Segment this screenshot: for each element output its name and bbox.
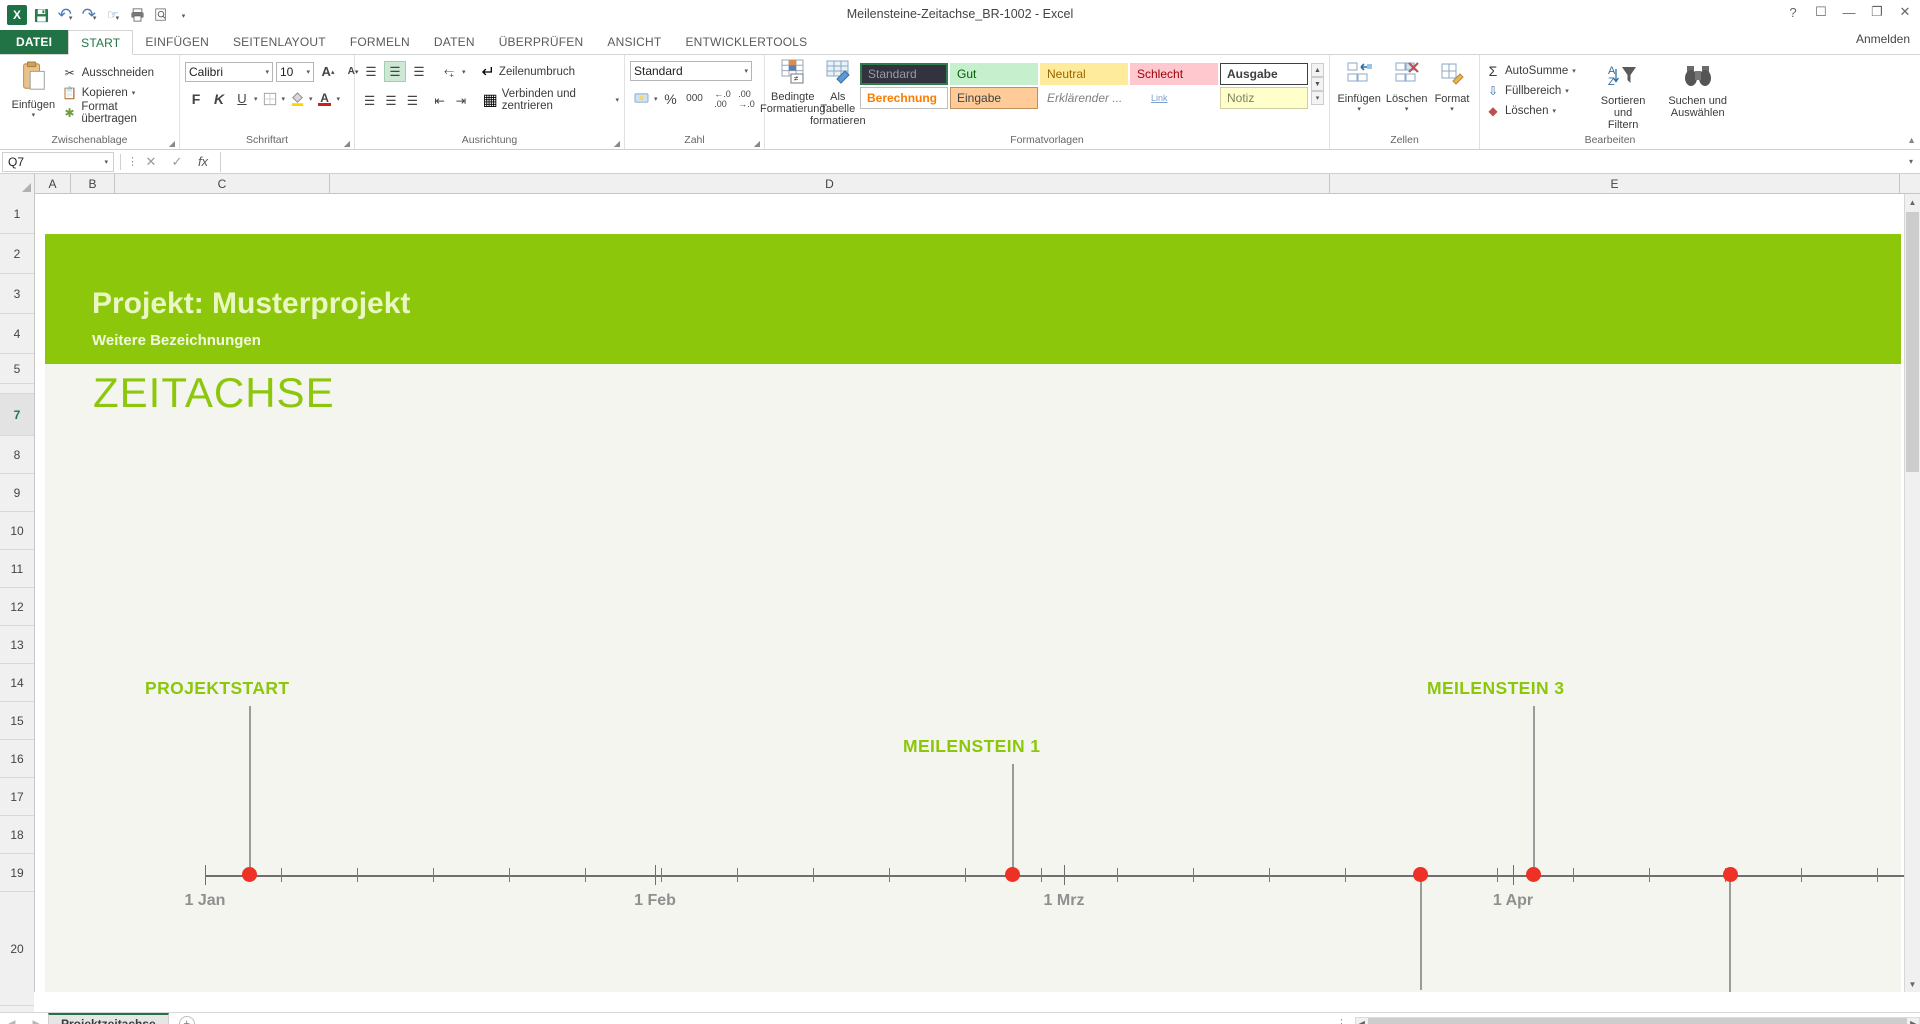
milestone-marker-2[interactable] (1413, 867, 1428, 882)
font-name-input[interactable]: Calibri ▾ (185, 62, 273, 82)
axis-minor-tick (965, 868, 966, 882)
conditional-formatting-label-1: Bedingte (771, 91, 814, 103)
font-dialog-launcher-icon[interactable]: ◢ (344, 139, 350, 148)
excel-window: X ↶▾ ↷▾ ☞▾ ▾ Meilensteine-Zeitachse_BR-1… (0, 0, 1920, 1024)
confirm-edit-icon[interactable]: ✓ (164, 154, 190, 170)
axis-minor-tick (1269, 868, 1270, 882)
row-header-19[interactable]: 19 (0, 854, 34, 892)
autosum-label: AutoSumme (1505, 65, 1568, 77)
ribbon-collapse-icon[interactable]: ▲ (1907, 135, 1916, 145)
number-dialog-launcher-icon[interactable]: ◢ (754, 139, 760, 148)
thousands-label: 000 (686, 93, 703, 104)
expand-formula-bar-icon[interactable]: ▾ (1902, 157, 1920, 166)
cell-style-gut[interactable]: Gut (950, 63, 1038, 85)
paste-icon (18, 61, 48, 99)
ribbon-tab-start[interactable]: START (68, 30, 133, 55)
row-header-14[interactable]: 14 (0, 664, 34, 702)
axis-minor-tick (1497, 868, 1498, 882)
signin-link[interactable]: Anmelden (1856, 32, 1910, 46)
gallery-scroll-down-icon[interactable]: ▼ (1311, 77, 1324, 91)
cells-title-text: Zellen (1390, 134, 1419, 146)
clipboard-group-title: Zwischenablage ◢ (0, 134, 179, 149)
format-cells-label: Format (1435, 93, 1470, 105)
insert-cells-dropdown-icon[interactable]: ▾ (1357, 105, 1361, 113)
close-icon[interactable]: ✕ (1896, 4, 1914, 20)
find-select-label-1: Suchen und (1668, 95, 1727, 107)
cut-button[interactable]: ✂ Ausschneiden (62, 63, 174, 83)
milestone-stem-projektstart (249, 706, 251, 878)
milestone-label-1: MEILENSTEIN 1 (903, 736, 1040, 757)
help-icon[interactable]: ? (1784, 5, 1802, 20)
orientation-dropdown-icon[interactable]: ▾ (462, 68, 466, 76)
align-center-button[interactable]: ☰ (381, 90, 400, 111)
cell-style-erklaerender-text[interactable]: Erklärender ... (1040, 87, 1128, 109)
vertical-scrollbar[interactable]: ▲ ▼ (1904, 194, 1920, 992)
title-bar: X ↶▾ ↷▾ ☞▾ ▾ Meilensteine-Zeitachse_BR-1… (0, 0, 1920, 30)
row-header-17[interactable]: 17 (0, 778, 34, 816)
axis-tick-label-jan: 1 Jan (185, 892, 226, 910)
copy-dropdown-icon[interactable]: ▾ (132, 89, 136, 97)
fill-color-dropdown-icon[interactable]: ▾ (309, 95, 313, 103)
cell-style-schlecht[interactable]: Schlecht (1130, 63, 1218, 85)
column-header-e[interactable]: E (1330, 174, 1900, 194)
axis-tick-label-mrz: 1 Mrz (1044, 892, 1085, 910)
axis-minor-tick (509, 868, 510, 882)
excel-logo-glyph: X (7, 5, 27, 25)
axis-minor-tick (281, 868, 282, 882)
autosum-button[interactable]: Σ AutoSumme ▾ (1485, 61, 1576, 81)
paste-dropdown-icon[interactable]: ▾ (32, 111, 36, 119)
scroll-up-icon[interactable]: ▲ (1905, 194, 1920, 210)
cell-style-standard[interactable]: Standard (860, 63, 948, 85)
horizontal-scrollbar[interactable]: ◀ ▶ (1355, 1017, 1920, 1024)
hscroll-right-icon[interactable]: ▶ (1907, 1019, 1919, 1024)
percent-label: % (664, 91, 676, 107)
insert-cells-label: Einfügen (1337, 93, 1380, 105)
fill-label: Füllbereich (1505, 85, 1561, 97)
svg-text:≠: ≠ (794, 74, 799, 83)
customize-qat-icon[interactable]: ▾ (174, 4, 196, 26)
ribbon: Einfügen ▾ ✂ Ausschneiden 📋 Kopieren ▾ ✱ (0, 55, 1920, 150)
underline-label: U (237, 91, 246, 106)
format-cells-button[interactable]: Format ▾ (1430, 59, 1474, 115)
cell-styles-scroll: ▲ ▼ ▾ (1311, 57, 1324, 105)
scissors-icon: ✂ (62, 66, 78, 80)
sheet-tab-projektzeitachse[interactable]: Projektzeitachse (48, 1013, 169, 1024)
ribbon-tab-einfuegen[interactable]: EINFÜGEN (133, 30, 221, 54)
sort-filter-icon: A Z (1607, 63, 1639, 95)
align-bottom-button[interactable]: ☰ (408, 61, 430, 82)
decrease-decimal-button[interactable]: .00→.0 (736, 88, 758, 109)
paintbrush-icon: ✱ (62, 106, 78, 120)
axis-minor-tick (585, 868, 586, 882)
column-header-a[interactable]: A (35, 174, 71, 194)
axis-minor-tick (1117, 868, 1118, 882)
delete-cells-dropdown-icon[interactable]: ▾ (1405, 105, 1409, 113)
cell-style-eingabe[interactable]: Eingabe (950, 87, 1038, 109)
fill-down-icon: ⇩ (1485, 84, 1501, 98)
merge-center-label: Verbinden und zentrieren (502, 88, 612, 112)
number-group-title: Zahl ◢ (625, 134, 764, 149)
column-header-d[interactable]: D (330, 174, 1330, 194)
conditional-formatting-icon: ≠ (778, 59, 808, 91)
ribbon-tab-datei[interactable]: DATEI (0, 30, 68, 54)
row-header-16[interactable]: 16 (0, 740, 34, 778)
clipboard-dialog-launcher-icon[interactable]: ◢ (169, 139, 175, 148)
italic-label: K (214, 91, 224, 107)
styles-group-title: Formatvorlagen (765, 134, 1329, 149)
cell-style-link[interactable]: Link (1130, 87, 1218, 109)
font-color-button[interactable]: A (314, 88, 336, 109)
merge-cells-icon: ▦ (483, 90, 498, 110)
ribbon-tab-ueberpruefen[interactable]: ÜBERPRÜFEN (487, 30, 596, 54)
milestone-stem-1 (1012, 764, 1014, 878)
quick-access-toolbar: X ↶▾ ↷▾ ☞▾ ▾ (0, 4, 196, 26)
milestone-marker-1[interactable] (1005, 867, 1020, 882)
cell-style-neutral[interactable]: Neutral (1040, 63, 1128, 85)
restore-icon[interactable]: ❐ (1868, 4, 1886, 20)
number-format-select[interactable]: Standard ▾ (630, 61, 752, 81)
axis-tick-label-feb: 1 Feb (634, 892, 676, 910)
cell-styles-gallery: Standard Gut Neutral Schlecht Ausgabe Be… (860, 57, 1308, 109)
currency-format-button[interactable] (630, 88, 652, 109)
redo-icon[interactable]: ↷▾ (78, 4, 100, 26)
number-format-dropdown-icon[interactable]: ▾ (740, 67, 748, 75)
axis-tick-label-apr: 1 Apr (1493, 892, 1533, 910)
axis-minor-tick (1041, 868, 1042, 882)
font-name-value: Calibri (189, 65, 223, 79)
axis-minor-tick (357, 868, 358, 882)
ribbon-group-editing: Σ AutoSumme ▾ ⇩ Füllbereich ▾ ◆ Löschen … (1480, 55, 1740, 149)
copy-label: Kopieren (82, 87, 128, 99)
wrap-text-label: Zeilenumbruch (499, 66, 575, 78)
borders-button[interactable] (259, 88, 281, 109)
axis-minor-tick (813, 868, 814, 882)
align-left-button[interactable]: ☰ (360, 90, 379, 111)
cell-style-ausgabe[interactable]: Ausgabe (1220, 63, 1308, 85)
row-header-1[interactable]: 1 (0, 194, 34, 234)
ribbon-tab-daten[interactable]: DATEN (422, 30, 487, 54)
formula-bar-grip-icon: ⋮ (127, 155, 138, 168)
eraser-icon: ◆ (1485, 104, 1501, 118)
underline-dropdown-icon[interactable]: ▾ (254, 95, 258, 103)
wrap-text-icon: ↵ (482, 62, 495, 82)
editing-group-title: Bearbeiten (1480, 134, 1740, 149)
autosum-dropdown-icon[interactable]: ▾ (1572, 67, 1576, 75)
sheet-tab-bar: ◀ ▶ Projektzeitachse + ⋮ ◀ ▶ (0, 1012, 1920, 1024)
name-box[interactable]: Q7 ▾ (2, 152, 114, 172)
sheet-nav-arrows: ◀ ▶ (0, 1018, 48, 1024)
sheet-prev-icon[interactable]: ◀ (9, 1018, 16, 1024)
italic-button[interactable]: K (208, 88, 230, 109)
clipboard-title-text: Zwischenablage (52, 134, 128, 146)
format-as-table-button[interactable]: Als Tabelle formatieren (816, 57, 861, 129)
row-header-15[interactable]: 15 (0, 702, 34, 740)
axis-minor-tick (1345, 868, 1346, 882)
name-box-dropdown-icon[interactable]: ▾ (104, 158, 108, 166)
sort-filter-label-1: Sortieren und (1591, 95, 1656, 119)
find-select-button[interactable]: Suchen und Auswählen (1660, 61, 1735, 121)
merge-center-button[interactable]: ▦ Verbinden und zentrieren ▾ (483, 88, 619, 112)
ribbon-tab-entwicklertools[interactable]: ENTWICKLERTOOLS (673, 30, 819, 54)
row-header-20[interactable]: 20 (0, 892, 34, 1006)
align-middle-button[interactable]: ☰ (384, 61, 406, 82)
ribbon-group-alignment: ☰ ☰ ☰ ⥆ ▾ ↵ Zeilenumbruch ☰ ☰ ☰ ⇤ ⇥ (355, 55, 625, 149)
cell-style-berechnung[interactable]: Berechnung (860, 87, 948, 109)
number-format-value: Standard (634, 64, 683, 78)
currency-dropdown-icon[interactable]: ▾ (654, 95, 658, 103)
milestone-label-projektstart: PROJEKTSTART (145, 678, 289, 699)
row-header-9[interactable]: 9 (0, 474, 34, 512)
formula-bar: Q7 ▾ ⋮ ✕ ✓ fx ▾ (0, 150, 1920, 174)
insert-function-icon[interactable]: fx (190, 154, 216, 169)
cancel-edit-icon[interactable]: ✕ (138, 154, 164, 170)
worksheet: A B C D E 1 2 3 4 5 6 7 8 9 10 11 12 13 … (0, 174, 1920, 1012)
font-size-dropdown-icon[interactable]: ▾ (302, 68, 310, 76)
alignment-title-text: Ausrichtung (462, 134, 517, 146)
gallery-more-icon[interactable]: ▾ (1311, 91, 1324, 105)
increase-decimal-button[interactable]: ←.0.00 (712, 88, 734, 109)
grow-font-button[interactable]: A▴ (317, 61, 339, 82)
cut-label: Ausschneiden (82, 67, 154, 79)
find-select-label-2: Auswählen (1671, 107, 1725, 119)
row-header-3[interactable]: 3 (0, 274, 34, 314)
font-color-dropdown-icon[interactable]: ▾ (337, 95, 341, 103)
row-header-7[interactable]: 7 (0, 394, 34, 436)
row-header-4[interactable]: 4 (0, 314, 34, 354)
fill-dropdown-icon[interactable]: ▾ (1565, 87, 1569, 95)
select-all-button[interactable] (0, 174, 35, 194)
delete-cells-button[interactable]: Löschen ▾ (1383, 59, 1430, 115)
row-header-18[interactable]: 18 (0, 816, 34, 854)
milestone-marker-projektstart[interactable] (242, 867, 257, 882)
axis-minor-tick (737, 868, 738, 882)
wrap-text-button[interactable]: ↵ Zeilenumbruch (482, 62, 575, 82)
excel-logo-icon: X (6, 4, 28, 26)
fill-color-button[interactable] (286, 88, 308, 109)
window-controls: ? ☐ — ❐ ✕ (1784, 4, 1914, 20)
column-headers: A B C D E (0, 174, 1920, 194)
font-name-dropdown-icon[interactable]: ▾ (261, 68, 269, 76)
copy-icon: 📋 (62, 86, 78, 100)
column-header-b[interactable]: B (71, 174, 115, 194)
milestone-marker-4[interactable] (1723, 867, 1738, 882)
axis-minor-tick (889, 868, 890, 882)
clear-label: Löschen (1505, 105, 1548, 117)
hscroll-left-icon[interactable]: ◀ (1356, 1019, 1368, 1024)
axis-minor-tick (1801, 868, 1802, 882)
clear-dropdown-icon[interactable]: ▾ (1552, 107, 1556, 115)
cell-styles-row-1: Standard Gut Neutral Schlecht Ausgabe (860, 63, 1308, 85)
row-header-12[interactable]: 12 (0, 588, 34, 626)
format-as-table-label-2: formatieren (810, 115, 866, 127)
milestone-label-3: MEILENSTEIN 3 (1427, 678, 1564, 699)
insert-cells-button[interactable]: Einfügen ▾ (1335, 59, 1383, 115)
ribbon-tab-ansicht[interactable]: ANSICHT (595, 30, 673, 54)
ribbon-tab-strip: DATEI START EINFÜGEN SEITENLAYOUT FORMEL… (0, 30, 1920, 55)
ribbon-group-styles: ≠ Bedingte Formatierung (765, 55, 1330, 149)
insert-cells-icon (1345, 61, 1373, 93)
column-header-c[interactable]: C (115, 174, 330, 194)
row-header-6[interactable]: 6 (0, 384, 34, 394)
axis-major-tick (205, 865, 206, 885)
milestone-stem-2 (1420, 876, 1422, 990)
font-title-text: Schriftart (246, 134, 288, 146)
paste-button[interactable]: Einfügen ▾ (5, 59, 62, 121)
vertical-scroll-thumb[interactable] (1906, 212, 1919, 472)
add-sheet-button[interactable]: + (179, 1016, 195, 1024)
clear-button[interactable]: ◆ Löschen ▾ (1485, 101, 1576, 121)
font-size-input[interactable]: 10 ▾ (276, 62, 314, 82)
format-painter-button[interactable]: ✱ Format übertragen (62, 103, 174, 123)
merge-center-dropdown-icon[interactable]: ▾ (615, 96, 619, 104)
horizontal-scroll-thumb[interactable] (1368, 1018, 1908, 1024)
axis-minor-tick (661, 868, 662, 882)
ribbon-group-number: Standard ▾ ▾ % 000 ←.0.00 .00→.0 Zahl ◢ (625, 55, 765, 149)
underline-button[interactable]: U (231, 88, 253, 109)
delete-cells-label: Löschen (1386, 93, 1428, 105)
milestone-stem-4 (1729, 876, 1731, 992)
axis-minor-tick (433, 868, 434, 882)
touch-mode-icon[interactable]: ☞▾ (102, 4, 124, 26)
undo-icon[interactable]: ↶▾ (54, 4, 76, 26)
minimize-icon[interactable]: — (1840, 5, 1858, 20)
cell-style-notiz[interactable]: Notiz (1220, 87, 1308, 109)
font-size-value: 10 (280, 65, 293, 79)
cell-styles-row-2: Berechnung Eingabe Erklärender ... Link … (860, 87, 1308, 109)
cells-group-title: Zellen (1330, 134, 1479, 149)
font-group-title: Schriftart ◢ (180, 134, 354, 149)
increase-indent-button[interactable]: ⇥ (451, 90, 470, 111)
name-box-value: Q7 (8, 155, 24, 169)
axis-minor-tick (1649, 868, 1650, 882)
ribbon-group-cells: Einfügen ▾ Löschen ▾ (1330, 55, 1480, 149)
milestone-stem-3 (1533, 706, 1535, 878)
bold-button[interactable]: F (185, 88, 207, 109)
scroll-down-icon[interactable]: ▼ (1905, 976, 1920, 992)
timeline-axis (205, 875, 1920, 877)
conditional-formatting-button[interactable]: ≠ Bedingte Formatierung (770, 57, 816, 117)
axis-minor-tick (1573, 868, 1574, 882)
sigma-icon: Σ (1485, 63, 1501, 79)
number-title-text: Zahl (684, 134, 704, 146)
delete-cells-icon (1393, 61, 1421, 93)
editing-title-text: Bearbeiten (1585, 134, 1636, 146)
timeline-chart[interactable]: 1 Jan 1 Feb 1 Mrz 1 Apr 1 Mai PROJEKTSTA… (35, 194, 1891, 992)
bold-label: F (192, 91, 201, 107)
ribbon-tab-formeln[interactable]: FORMELN (338, 30, 422, 54)
row-header-13[interactable]: 13 (0, 626, 34, 664)
styles-title-text: Formatvorlagen (1010, 134, 1084, 146)
tab-split-grip-icon[interactable]: ⋮ (1336, 1017, 1347, 1024)
comma-format-button[interactable]: 000 (684, 88, 706, 109)
gallery-scroll-up-icon[interactable]: ▲ (1311, 63, 1324, 77)
percent-format-button[interactable]: % (660, 88, 682, 109)
sort-filter-button[interactable]: A Z Sortieren und Filtern (1586, 61, 1661, 133)
ribbon-group-clipboard: Einfügen ▾ ✂ Ausschneiden 📋 Kopieren ▾ ✱ (0, 55, 180, 149)
axis-minor-tick (1877, 868, 1878, 882)
sheet-content[interactable]: Projekt: Musterprojekt Weitere Bezeichnu… (35, 194, 1920, 992)
alignment-group-title: Ausrichtung ◢ (355, 134, 624, 149)
row-headers: 1 2 3 4 5 6 7 8 9 10 11 12 13 14 15 16 1… (0, 194, 35, 992)
horizontal-scroll-area: ⋮ ◀ ▶ (195, 1017, 1920, 1024)
fill-button[interactable]: ⇩ Füllbereich ▾ (1485, 81, 1576, 101)
row-header-5[interactable]: 5 (0, 354, 34, 384)
sort-filter-label-2: Filtern (1608, 119, 1639, 131)
axis-major-tick (655, 865, 656, 885)
row-header-21[interactable]: 21 (0, 1006, 34, 1012)
decrease-indent-button[interactable]: ⇤ (430, 90, 449, 111)
print-preview-icon[interactable] (150, 4, 172, 26)
quick-print-icon[interactable] (126, 4, 148, 26)
ribbon-display-icon[interactable]: ☐ (1812, 4, 1830, 20)
ribbon-group-font: Calibri ▾ 10 ▾ A▴ A▾ F K U ▾ (180, 55, 355, 149)
grid-body: 1 2 3 4 5 6 7 8 9 10 11 12 13 14 15 16 1… (0, 194, 1920, 992)
align-top-button[interactable]: ☰ (360, 61, 382, 82)
binoculars-icon (1683, 63, 1713, 95)
row-header-2[interactable]: 2 (0, 234, 34, 274)
format-cells-dropdown-icon[interactable]: ▾ (1450, 105, 1454, 113)
format-as-table-label-1: Als Tabelle (820, 91, 855, 115)
formula-input[interactable] (220, 152, 1902, 172)
axis-major-tick (1513, 865, 1514, 885)
align-right-button[interactable]: ☰ (403, 90, 422, 111)
paste-label: Einfügen (12, 99, 55, 111)
ribbon-tab-seitenlayout[interactable]: SEITENLAYOUT (221, 30, 338, 54)
format-painter-label: Format übertragen (81, 101, 174, 125)
window-title: Meilensteine-Zeitachse_BR-1002 - Excel (0, 7, 1920, 21)
axis-minor-tick (1193, 868, 1194, 882)
axis-major-tick (1064, 865, 1065, 885)
save-icon[interactable] (30, 4, 52, 26)
orientation-button[interactable]: ⥆ (438, 61, 460, 82)
milestone-marker-3[interactable] (1526, 867, 1541, 882)
borders-dropdown-icon[interactable]: ▾ (282, 95, 286, 103)
row-header-11[interactable]: 11 (0, 550, 34, 588)
row-header-10[interactable]: 10 (0, 512, 34, 550)
row-header-8[interactable]: 8 (0, 436, 34, 474)
format-cells-icon (1439, 61, 1465, 93)
format-as-table-icon (823, 59, 853, 91)
copy-button[interactable]: 📋 Kopieren ▾ (62, 83, 174, 103)
sheet-next-icon[interactable]: ▶ (33, 1018, 40, 1024)
alignment-dialog-launcher-icon[interactable]: ◢ (614, 139, 620, 148)
